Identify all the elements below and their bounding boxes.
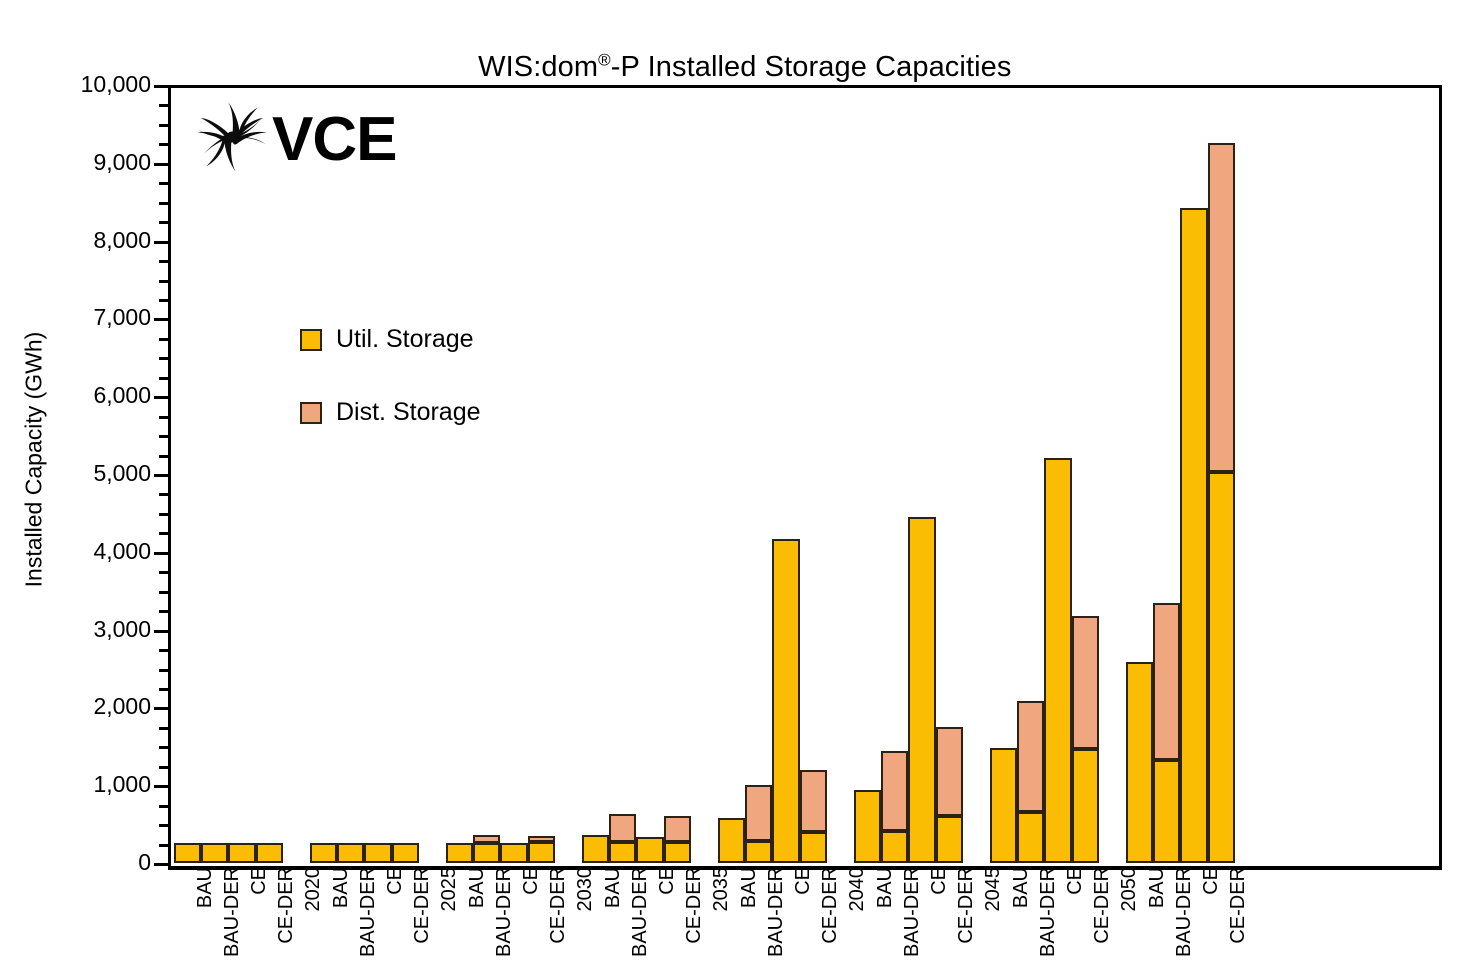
y-axis-minor-tick [159, 338, 168, 341]
bar-column [854, 790, 881, 863]
y-axis-minor-tick [159, 260, 168, 263]
bar-column [1153, 603, 1180, 863]
bar-column [337, 843, 364, 863]
x-axis-tick-label: BAU-DER [493, 867, 516, 957]
y-axis-minor-tick [159, 493, 168, 496]
y-axis-minor-tick [159, 727, 168, 730]
x-axis-year-label: 2020 [302, 867, 325, 912]
bar-segment-util-storage [256, 843, 283, 863]
x-axis-tick-label: CE [384, 867, 407, 895]
x-axis-year-label: 2050 [1118, 867, 1141, 912]
bar-segment-util-storage [800, 832, 827, 863]
bar-segment-util-storage [881, 831, 908, 863]
x-axis-tick-label: BAU-DER [221, 867, 244, 957]
y-axis-tick-label: 5,000 [0, 460, 151, 487]
bar-segment-util-storage [1126, 662, 1153, 863]
bar-column [1180, 208, 1207, 863]
y-axis-minor-tick [159, 182, 168, 185]
x-axis-tick-label: BAU-DER [901, 867, 924, 957]
y-axis-minor-tick [159, 377, 168, 380]
x-axis-tick-label: BAU [330, 867, 353, 908]
x-axis-tick-label: BAU-DER [629, 867, 652, 957]
vce-wordmark: VCE [272, 109, 396, 171]
bar-column [1044, 458, 1071, 863]
y-axis-minor-tick [159, 591, 168, 594]
x-axis-tick-label: BAU [874, 867, 897, 908]
x-axis-tick-label: BAU-DER [1037, 867, 1060, 957]
x-axis-tick-label: CE [520, 867, 543, 895]
bar-segment-util-storage [990, 748, 1017, 863]
y-axis-tick-label: 6,000 [0, 382, 151, 409]
x-axis-tick-label: CE-DER [547, 867, 570, 944]
bar-column [310, 843, 337, 863]
x-axis-tick-label: BAU [738, 867, 761, 908]
x-axis-tick-label: BAU [1146, 867, 1169, 908]
y-axis-major-tick [154, 552, 168, 555]
bar-column [528, 836, 555, 863]
y-axis-minor-tick [159, 221, 168, 224]
x-axis-tick-label: CE [248, 867, 271, 895]
bar-segment-util-storage [364, 843, 391, 863]
bar-segment-dist-storage [609, 814, 636, 842]
bar-segment-util-storage [392, 843, 419, 863]
bar-segment-util-storage [609, 842, 636, 863]
bar-segment-util-storage [228, 843, 255, 863]
registered-trademark-icon: ® [598, 50, 611, 69]
x-axis-tick-label: CE [928, 867, 951, 895]
y-axis-major-tick [154, 85, 168, 88]
y-axis-tick-label: 2,000 [0, 693, 151, 720]
bar-segment-dist-storage [528, 836, 555, 842]
y-axis-tick-label: 7,000 [0, 304, 151, 331]
y-axis-tick-label: 1,000 [0, 771, 151, 798]
bar-segment-util-storage [1044, 458, 1071, 863]
y-axis-minor-tick [159, 669, 168, 672]
x-axis-tick-label: BAU [602, 867, 625, 908]
x-axis-tick-label: CE-DER [1227, 867, 1250, 944]
bar-segment-dist-storage [473, 835, 500, 843]
bar-column [772, 539, 799, 863]
y-axis-minor-tick [159, 416, 168, 419]
bar-segment-dist-storage [1208, 143, 1235, 472]
bar-segment-util-storage [772, 539, 799, 863]
y-axis-minor-tick [159, 610, 168, 613]
x-axis-tick-label: BAU [1010, 867, 1033, 908]
y-axis-major-tick [154, 785, 168, 788]
y-axis-minor-tick [159, 455, 168, 458]
x-axis-year-label: 2045 [982, 867, 1005, 912]
bar-column [228, 843, 255, 863]
x-axis-tick-label: CE-DER [1091, 867, 1114, 944]
bar-segment-util-storage [310, 843, 337, 863]
bar-segment-dist-storage [1017, 701, 1044, 812]
x-axis-tick-label: BAU-DER [1173, 867, 1196, 957]
y-axis-minor-tick [159, 513, 168, 516]
bar-column [364, 843, 391, 863]
y-axis-minor-tick [159, 124, 168, 127]
y-axis-major-tick [154, 474, 168, 477]
y-axis-minor-tick [159, 280, 168, 283]
x-axis-tick-label: BAU [466, 867, 489, 908]
legend-swatch-icon [300, 329, 322, 351]
x-axis-tick-label: CE [1200, 867, 1223, 895]
y-axis-tick-label: 0 [0, 849, 151, 876]
x-axis-year-label: 2030 [574, 867, 597, 912]
bar-segment-dist-storage [664, 816, 691, 842]
x-axis-labels: BAUBAU-DERCECE-DER2020BAUBAU-DERCECE-DER… [168, 867, 1436, 975]
y-axis-major-tick [154, 863, 168, 866]
bar-column [881, 751, 908, 863]
bar-column [800, 770, 827, 863]
bar-segment-dist-storage [881, 751, 908, 831]
bar-column [990, 748, 1017, 863]
x-axis-tick-label: BAU-DER [765, 867, 788, 957]
bar-segment-dist-storage [745, 785, 772, 841]
y-axis-minor-tick [159, 357, 168, 360]
x-axis-year-label: 2035 [710, 867, 733, 912]
x-axis-tick-label: BAU-DER [357, 867, 380, 957]
legend-item-util[interactable]: Util. Storage [300, 325, 481, 354]
bar-segment-util-storage [446, 843, 473, 863]
bar-segment-dist-storage [936, 727, 963, 816]
y-axis-minor-tick [159, 824, 168, 827]
y-axis-minor-tick [159, 299, 168, 302]
x-axis-tick-label: CE [656, 867, 679, 895]
bar-segment-util-storage [908, 517, 935, 863]
y-axis-tick-label: 10,000 [0, 71, 151, 98]
bar-column [473, 835, 500, 863]
x-axis-tick-label: CE-DER [411, 867, 434, 944]
bar-segment-util-storage [1017, 812, 1044, 863]
bar-segment-util-storage [500, 843, 527, 863]
bar-segment-util-storage [473, 843, 500, 863]
legend-label: Util. Storage [336, 325, 474, 354]
y-axis-major-tick [154, 630, 168, 633]
bar-column [609, 814, 636, 863]
x-axis-tick-label: CE [1064, 867, 1087, 895]
chart-title-main: WIS:dom [478, 51, 598, 83]
x-axis-tick-label: BAU [194, 867, 217, 908]
x-axis-year-label: 2025 [438, 867, 461, 912]
y-axis-tick-label: 8,000 [0, 227, 151, 254]
y-axis-minor-tick [159, 746, 168, 749]
bar-segment-util-storage [1072, 749, 1099, 863]
vce-swirl-logo-icon [186, 93, 278, 186]
legend-item-dist[interactable]: Dist. Storage [300, 398, 481, 427]
bar-segment-util-storage [174, 843, 201, 863]
chart-legend: Util. StorageDist. Storage [300, 325, 481, 471]
x-axis-year-label: 2040 [846, 867, 869, 912]
y-axis-tick-label: 9,000 [0, 149, 151, 176]
bar-segment-util-storage [1180, 208, 1207, 863]
bar-column [664, 816, 691, 863]
y-axis-minor-tick [159, 435, 168, 438]
bar-segment-util-storage [528, 842, 555, 863]
bar-segment-util-storage [718, 818, 745, 863]
y-axis-major-tick [154, 396, 168, 399]
y-axis-minor-tick [159, 649, 168, 652]
bar-column [1017, 701, 1044, 863]
bar-segment-util-storage [636, 837, 663, 863]
bar-column [1208, 143, 1235, 863]
bar-segment-util-storage [582, 835, 609, 863]
bars-layer [168, 85, 1436, 863]
y-axis-major-tick [154, 163, 168, 166]
bar-column [718, 818, 745, 863]
bar-segment-util-storage [936, 816, 963, 863]
bar-segment-util-storage [664, 842, 691, 863]
bar-segment-util-storage [1208, 472, 1235, 863]
bar-column [908, 517, 935, 863]
bar-column [256, 843, 283, 863]
bar-segment-util-storage [1153, 760, 1180, 863]
legend-label: Dist. Storage [336, 398, 481, 427]
x-axis-tick-label: CE-DER [819, 867, 842, 944]
y-axis-minor-tick [159, 571, 168, 574]
bar-column [174, 843, 201, 863]
y-axis-minor-tick [159, 202, 168, 205]
bar-segment-dist-storage [800, 770, 827, 832]
y-axis-major-tick [154, 707, 168, 710]
legend-swatch-icon [300, 402, 322, 424]
y-axis-tick-label: 3,000 [0, 616, 151, 643]
y-axis-minor-tick [159, 766, 168, 769]
y-axis-minor-tick [159, 532, 168, 535]
y-axis-minor-tick [159, 104, 168, 107]
bar-segment-dist-storage [1153, 603, 1180, 760]
bar-segment-util-storage [201, 843, 228, 863]
y-axis-minor-tick [159, 143, 168, 146]
bar-column [1072, 616, 1099, 863]
bar-column [745, 785, 772, 863]
bar-column [201, 843, 228, 863]
bar-column [936, 727, 963, 863]
chart-container: WIS:dom®-P Installed Storage Capacities … [0, 0, 1457, 975]
vce-logo: VCE [186, 93, 396, 186]
bar-segment-util-storage [854, 790, 881, 863]
y-axis-major-tick [154, 241, 168, 244]
bar-segment-util-storage [337, 843, 364, 863]
x-axis-tick-label: CE-DER [955, 867, 978, 944]
bar-column [500, 843, 527, 863]
y-axis-major-tick [154, 318, 168, 321]
bar-column [582, 835, 609, 863]
y-axis-minor-tick [159, 844, 168, 847]
bar-column [392, 843, 419, 863]
y-axis-minor-tick [159, 688, 168, 691]
chart-title-tail: -P Installed Storage Capacities [611, 51, 1012, 83]
bar-segment-util-storage [745, 841, 772, 863]
y-axis-tick-label: 4,000 [0, 538, 151, 565]
bar-segment-dist-storage [1072, 616, 1099, 749]
bar-column [1126, 662, 1153, 863]
x-axis-tick-label: CE-DER [683, 867, 706, 944]
x-axis-tick-label: CE-DER [275, 867, 298, 944]
bar-column [636, 837, 663, 863]
bar-column [446, 843, 473, 863]
x-axis-tick-label: CE [792, 867, 815, 895]
y-axis-minor-tick [159, 805, 168, 808]
